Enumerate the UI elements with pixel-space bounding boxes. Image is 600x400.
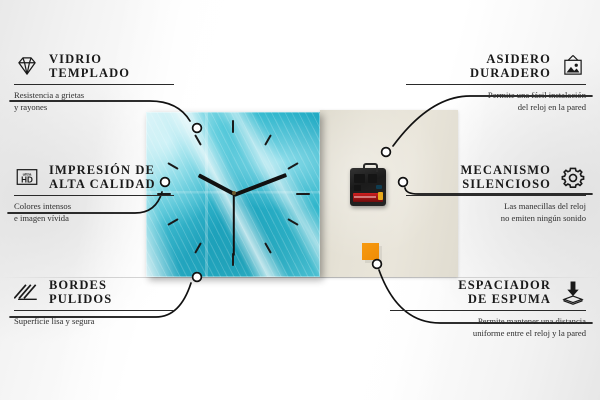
down-arrow-layers-icon (560, 279, 586, 305)
node-asidero (382, 148, 391, 157)
feature-title-line2: PULIDOS (49, 292, 112, 306)
feature-rule (406, 84, 586, 85)
feature-desc-line2: e imagen vívida (14, 212, 174, 224)
feature-desc-line1: Resistencia a grietas (14, 89, 174, 101)
feature-desc-line2: uniforme entre el reloj y la pared (390, 327, 586, 339)
feature-title-line2: DE ESPUMA (458, 292, 551, 306)
feature-title-line1: VIDRIO (49, 52, 130, 66)
node-espaciador (373, 260, 382, 269)
feature-desc-line1: Permite una fácil instalación (406, 89, 586, 101)
feature-desc-line2: no emiten ningún sonido (406, 212, 586, 224)
feature-desc-line2: y rayones (14, 101, 174, 113)
feature-title-line2: TEMPLADO (49, 66, 130, 80)
feature-impresion-alta-calidad: ultra HD IMPRESIÓN DE ALTA CALIDAD Color… (14, 163, 174, 225)
ultra-hd-main-label: HD (21, 175, 33, 184)
feature-desc-line2: del reloj en la pared (406, 101, 586, 113)
feature-vidrio-templado: VIDRIO TEMPLADO Resistencia a grietas y … (14, 52, 174, 114)
feature-mecanismo-silencioso: MECANISMO SILENCIOSO Las manecillas del … (406, 163, 586, 225)
feature-rule (14, 84, 174, 85)
feature-desc-line1: Las manecillas del reloj (406, 200, 586, 212)
feature-title-line1: IMPRESIÓN DE (49, 163, 156, 177)
feature-desc-line1: Superficie lisa y segura (14, 315, 174, 327)
feature-title-line1: ASIDERO (470, 52, 551, 66)
hanging-frame-icon (560, 53, 586, 79)
ultra-hd-icon: ultra HD (14, 164, 40, 190)
feature-rule (390, 310, 586, 311)
node-bordes (193, 273, 202, 282)
gear-icon (560, 164, 586, 190)
infographic-canvas: VIDRIO TEMPLADO Resistencia a grietas y … (0, 0, 600, 400)
node-vidrio-templado (193, 124, 202, 133)
feature-title-line2: ALTA CALIDAD (49, 177, 156, 191)
feature-desc-line1: Permite mantener una distancia (390, 315, 586, 327)
feature-bordes-pulidos: BORDES PULIDOS Superficie lisa y segura (14, 278, 174, 327)
feature-title-line2: DURADERO (470, 66, 551, 80)
feature-title-line1: BORDES (49, 278, 112, 292)
feature-rule (406, 195, 586, 196)
diamond-icon (14, 53, 40, 79)
diagonal-lines-icon (14, 279, 40, 305)
feature-title-line2: SILENCIOSO (461, 177, 551, 191)
feature-rule (14, 195, 174, 196)
feature-desc-line1: Colores intensos (14, 200, 174, 212)
feature-asidero-duradero: ASIDERO DURADERO Permite una fácil insta… (406, 52, 586, 114)
feature-title-line1: MECANISMO (461, 163, 551, 177)
feature-rule (14, 310, 174, 311)
feature-espaciador-de-espuma: ESPACIADOR DE ESPUMA Permite mantener un… (390, 278, 586, 340)
feature-title-line1: ESPACIADOR (458, 278, 551, 292)
